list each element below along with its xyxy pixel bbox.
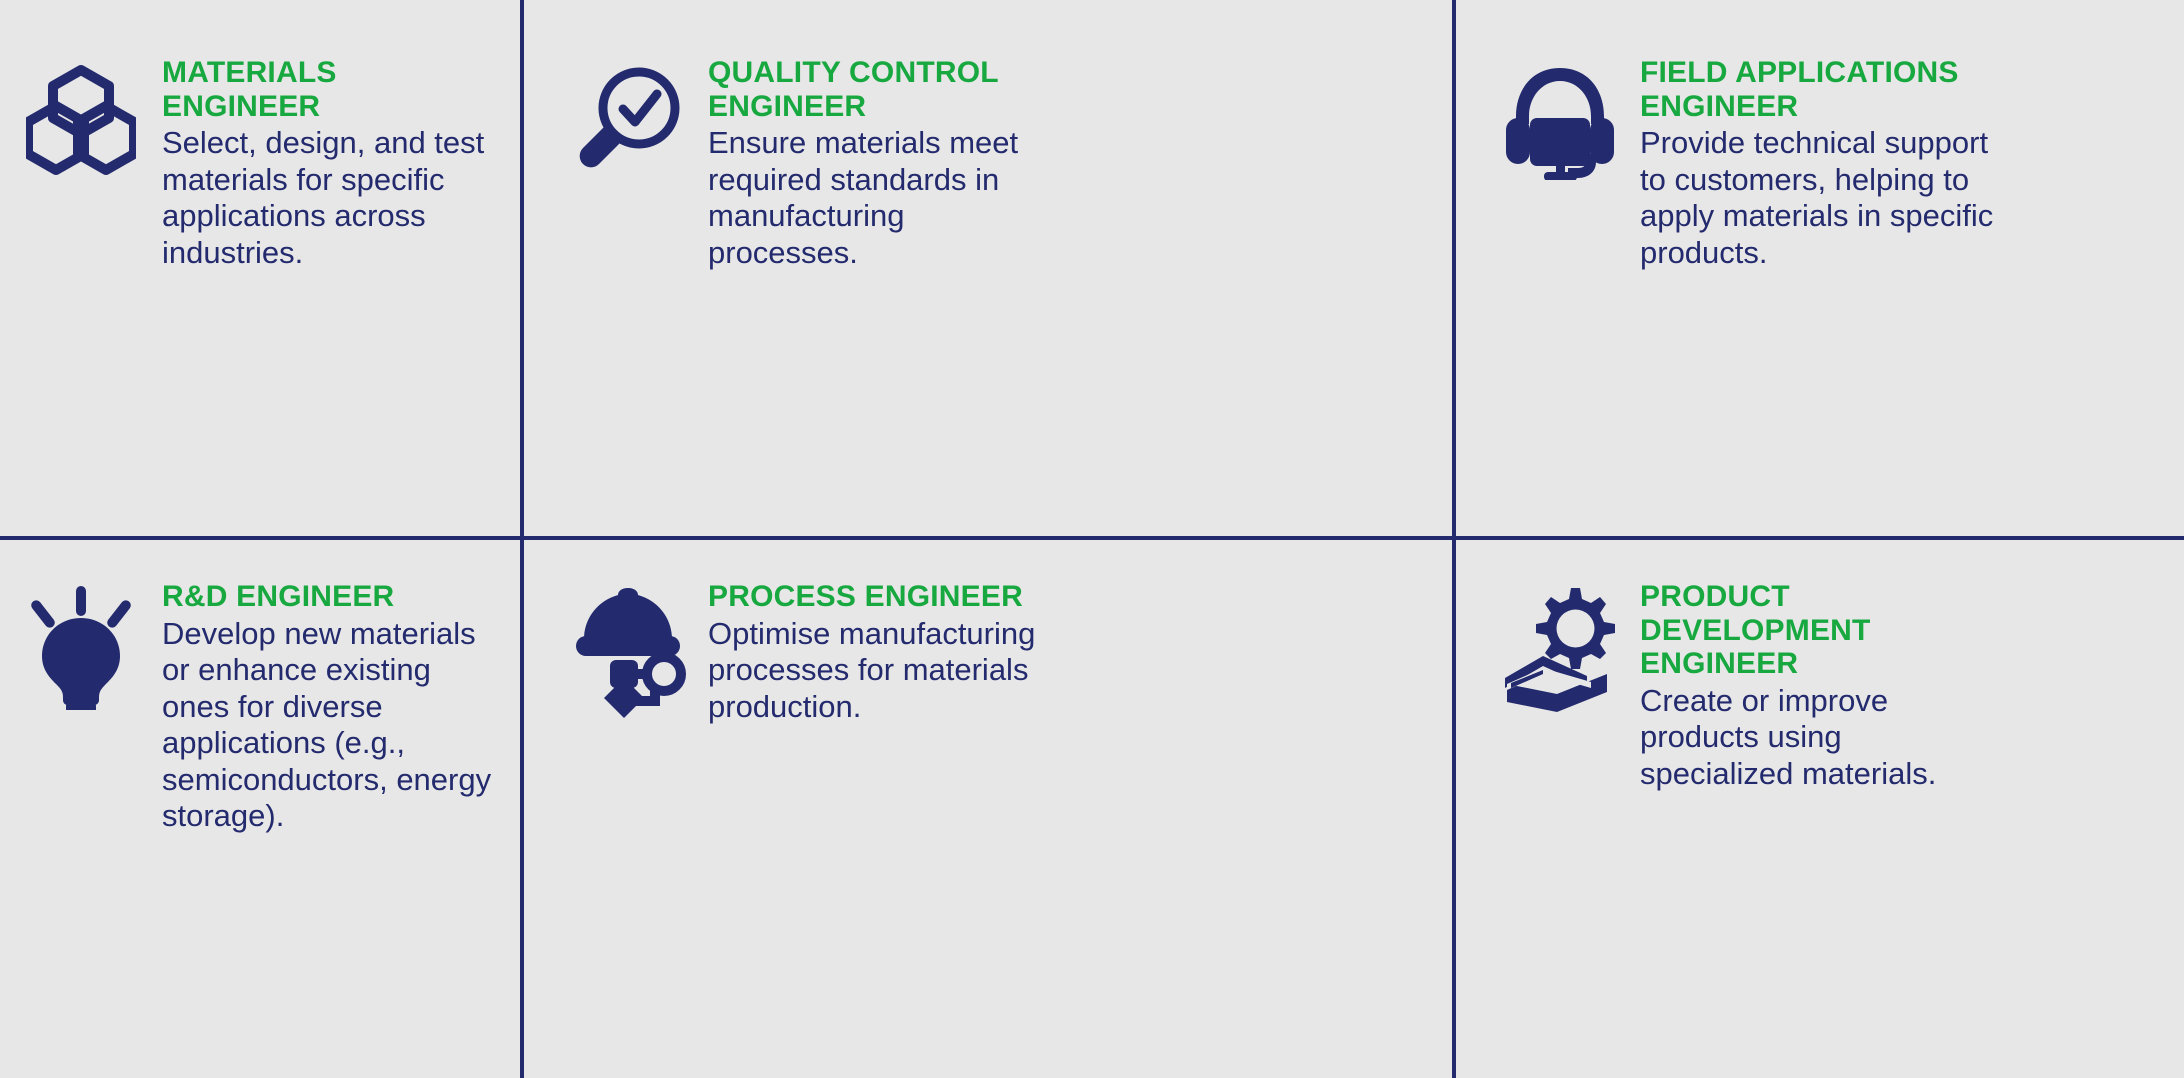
card-description: Optimise manufacturing processes for mat… [708, 616, 1038, 726]
card-description: Create or improve products using special… [1640, 683, 2000, 793]
card-description: Select, design, and test materials for s… [162, 125, 498, 271]
card-text: PROCESS ENGINEER Optimise manufacturing … [708, 580, 1064, 725]
card-text: R&D ENGINEER Develop new materials or en… [162, 580, 524, 835]
headset-monitor-icon [1480, 56, 1640, 180]
horizontal-divider [0, 536, 2184, 540]
card-title: QUALITY CONTROL ENGINEER [708, 56, 1058, 123]
gear-box-icon [1480, 580, 1640, 714]
card-title: PROCESS ENGINEER [708, 580, 1038, 614]
lightbulb-icon [0, 580, 162, 710]
card-process-engineer: PROCESS ENGINEER Optimise manufacturing … [524, 538, 1456, 1078]
magnifier-check-icon [548, 56, 708, 178]
card-text: QUALITY CONTROL ENGINEER Ensure material… [708, 56, 1084, 272]
card-text: FIELD APPLICATIONS ENGINEER Provide tech… [1640, 56, 2026, 272]
card-text: MATERIALS ENGINEER Select, design, and t… [162, 56, 524, 272]
card-quality-control-engineer: QUALITY CONTROL ENGINEER Ensure material… [524, 0, 1456, 538]
card-field-applications-engineer: FIELD APPLICATIONS ENGINEER Provide tech… [1456, 0, 2184, 538]
card-text: PRODUCT DEVELOPMENT ENGINEER Create or i… [1640, 580, 2026, 793]
card-product-development-engineer: PRODUCT DEVELOPMENT ENGINEER Create or i… [1456, 538, 2184, 1078]
hardhat-flowchart-icon [548, 580, 708, 718]
card-title: PRODUCT DEVELOPMENT ENGINEER [1640, 580, 2000, 681]
hexagon-cluster-icon [0, 56, 162, 178]
card-title: FIELD APPLICATIONS ENGINEER [1640, 56, 2000, 123]
card-materials-engineer: MATERIALS ENGINEER Select, design, and t… [0, 0, 524, 538]
card-title: R&D ENGINEER [162, 580, 498, 614]
card-description: Develop new materials or enhance existin… [162, 616, 498, 835]
engineering-roles-grid: MATERIALS ENGINEER Select, design, and t… [0, 0, 2184, 1078]
card-title: MATERIALS ENGINEER [162, 56, 498, 123]
card-rd-engineer: R&D ENGINEER Develop new materials or en… [0, 538, 524, 1078]
card-description: Ensure materials meet required standards… [708, 125, 1058, 271]
card-description: Provide technical support to customers, … [1640, 125, 2000, 271]
